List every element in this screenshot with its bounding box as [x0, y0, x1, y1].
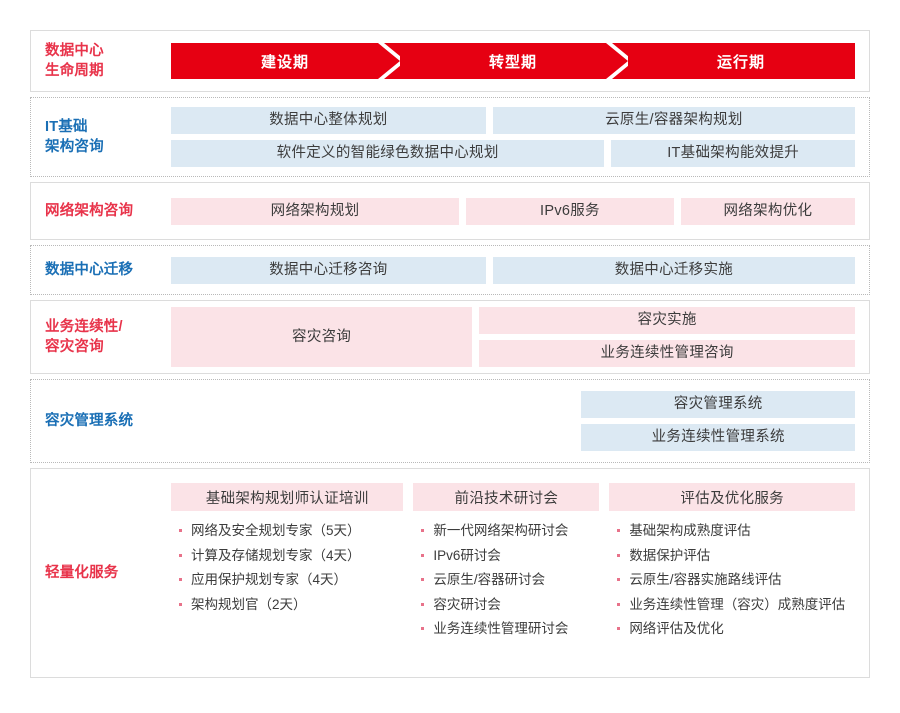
it-infra-line-1: 数据中心整体规划 云原生/容器架构规划 — [171, 107, 855, 134]
it-infra-body: 数据中心整体规划 云原生/容器架构规划 软件定义的智能绿色数据中心规划 IT基础… — [171, 107, 869, 167]
chip-network-arch-planning[interactable]: 网络架构规划 — [171, 198, 459, 225]
lifecycle-arrow-bar: 建设期 转型期 运行期 — [171, 43, 855, 79]
list-item: 架构规划官（2天） — [177, 597, 403, 613]
list-item: 计算及存储规划专家（4天） — [177, 548, 403, 564]
chip-dc-migration-consulting[interactable]: 数据中心迁移咨询 — [171, 257, 486, 284]
chip-bcm-consulting[interactable]: 业务连续性管理咨询 — [479, 340, 855, 367]
list-item: 网络及安全规划专家（5天） — [177, 523, 403, 539]
lightweight-column-assessment-title[interactable]: 评估及优化服务 — [609, 483, 855, 511]
row-label-lifecycle: 数据中心 生命周期 — [31, 41, 171, 81]
list-item: 新一代网络架构研讨会 — [419, 523, 599, 539]
chip-ipv6-service[interactable]: IPv6服务 — [466, 198, 674, 225]
lifecycle-body: 建设期 转型期 运行期 — [171, 43, 869, 79]
bcdr-right-col: 容灾实施 业务连续性管理咨询 — [479, 307, 855, 367]
lifecycle-phase-2[interactable]: 转型期 — [399, 43, 627, 79]
list-item: 云原生/容器研讨会 — [419, 572, 599, 588]
dr-system-body: 容灾管理系统 业务连续性管理系统 — [171, 391, 869, 451]
row-migration: 数据中心迁移 数据中心迁移咨询 数据中心迁移实施 — [30, 245, 870, 295]
row-bcdr: 业务连续性/ 容灾咨询 容灾咨询 容灾实施 业务连续性管理咨询 — [30, 300, 870, 374]
lightweight-column-assessment: 评估及优化服务 基础架构成熟度评估 数据保护评估 云原生/容器实施路线评估 业务… — [609, 483, 855, 677]
bcdr-body: 容灾咨询 容灾实施 业务连续性管理咨询 — [171, 307, 869, 367]
chip-sddc-green-planning[interactable]: 软件定义的智能绿色数据中心规划 — [171, 140, 604, 167]
chip-it-infra-efficiency[interactable]: IT基础架构能效提升 — [611, 140, 855, 167]
list-item: 业务连续性管理（容灾）成熟度评估 — [615, 597, 855, 613]
list-item: 云原生/容器实施路线评估 — [615, 572, 855, 588]
row-network: 网络架构咨询 网络架构规划 IPv6服务 网络架构优化 — [30, 182, 870, 240]
service-matrix-diagram: 数据中心 生命周期 建设期 转型期 运行期 — [0, 0, 900, 713]
lightweight-column-seminar-list: 新一代网络架构研讨会 IPv6研讨会 云原生/容器研讨会 容灾研讨会 业务连续性… — [413, 511, 599, 646]
dr-system-chip-group: 容灾管理系统 业务连续性管理系统 — [171, 391, 855, 451]
lifecycle-phase-2-label: 转型期 — [489, 51, 537, 72]
lightweight-body: 基础架构规划师认证培训 网络及安全规划专家（5天） 计算及存储规划专家（4天） … — [171, 469, 869, 677]
list-item: 数据保护评估 — [615, 548, 855, 564]
migration-line-1: 数据中心迁移咨询 数据中心迁移实施 — [171, 257, 855, 284]
lightweight-columns: 基础架构规划师认证培训 网络及安全规划专家（5天） 计算及存储规划专家（4天） … — [171, 469, 855, 677]
chip-dr-management-system[interactable]: 容灾管理系统 — [581, 391, 855, 418]
chevron-right-icon — [378, 43, 400, 79]
lifecycle-phase-1-label: 建设期 — [261, 51, 309, 72]
row-lightweight-services: 轻量化服务 基础架构规划师认证培训 网络及安全规划专家（5天） 计算及存储规划专… — [30, 468, 870, 678]
row-lifecycle: 数据中心 生命周期 建设期 转型期 运行期 — [30, 30, 870, 92]
list-item: 网络评估及优化 — [615, 621, 855, 637]
row-label-bcdr: 业务连续性/ 容灾咨询 — [31, 317, 171, 357]
lightweight-column-seminar-title[interactable]: 前沿技术研讨会 — [413, 483, 599, 511]
it-infra-line-2: 软件定义的智能绿色数据中心规划 IT基础架构能效提升 — [171, 140, 855, 167]
dr-system-col: 容灾管理系统 业务连续性管理系统 — [581, 391, 855, 451]
row-label-it-infra: IT基础 架构咨询 — [31, 117, 171, 157]
chip-dr-consulting[interactable]: 容灾咨询 — [171, 307, 472, 367]
migration-body: 数据中心迁移咨询 数据中心迁移实施 — [171, 257, 869, 284]
lightweight-column-training-list: 网络及安全规划专家（5天） 计算及存储规划专家（4天） 应用保护规划专家（4天）… — [171, 511, 403, 621]
lightweight-column-training-title[interactable]: 基础架构规划师认证培训 — [171, 483, 403, 511]
row-label-lightweight-services: 轻量化服务 — [31, 469, 171, 677]
list-item: 容灾研讨会 — [419, 597, 599, 613]
lightweight-column-training: 基础架构规划师认证培训 网络及安全规划专家（5天） 计算及存储规划专家（4天） … — [171, 483, 403, 677]
row-it-infra: IT基础 架构咨询 数据中心整体规划 云原生/容器架构规划 软件定义的智能绿色数… — [30, 97, 870, 177]
chip-bcm-system[interactable]: 业务连续性管理系统 — [581, 424, 855, 451]
network-body: 网络架构规划 IPv6服务 网络架构优化 — [171, 198, 869, 225]
lightweight-column-seminar: 前沿技术研讨会 新一代网络架构研讨会 IPv6研讨会 云原生/容器研讨会 容灾研… — [413, 483, 599, 677]
network-line-1: 网络架构规划 IPv6服务 网络架构优化 — [171, 198, 855, 225]
bcdr-left-col: 容灾咨询 — [171, 307, 472, 367]
chip-cloudnative-container-arch[interactable]: 云原生/容器架构规划 — [493, 107, 855, 134]
bcdr-chip-group: 容灾咨询 容灾实施 业务连续性管理咨询 — [171, 307, 855, 367]
row-dr-system: 容灾管理系统 容灾管理系统 业务连续性管理系统 — [30, 379, 870, 463]
list-item: 应用保护规划专家（4天） — [177, 572, 403, 588]
chip-dr-implementation[interactable]: 容灾实施 — [479, 307, 855, 334]
list-item: IPv6研讨会 — [419, 548, 599, 564]
list-item: 业务连续性管理研讨会 — [419, 621, 599, 637]
row-label-dr-system: 容灾管理系统 — [31, 411, 171, 431]
lifecycle-phase-1[interactable]: 建设期 — [171, 43, 399, 79]
chevron-right-icon — [606, 43, 628, 79]
lifecycle-phase-3-label: 运行期 — [717, 51, 765, 72]
list-item: 基础架构成熟度评估 — [615, 523, 855, 539]
row-label-migration: 数据中心迁移 — [31, 260, 171, 280]
chip-dc-migration-implementation[interactable]: 数据中心迁移实施 — [493, 257, 855, 284]
lifecycle-phase-3[interactable]: 运行期 — [627, 43, 855, 79]
chip-dc-overall-planning[interactable]: 数据中心整体规划 — [171, 107, 486, 134]
chip-network-arch-optimization[interactable]: 网络架构优化 — [681, 198, 855, 225]
lightweight-column-assessment-list: 基础架构成熟度评估 数据保护评估 云原生/容器实施路线评估 业务连续性管理（容灾… — [609, 511, 855, 646]
row-label-network: 网络架构咨询 — [31, 201, 171, 221]
